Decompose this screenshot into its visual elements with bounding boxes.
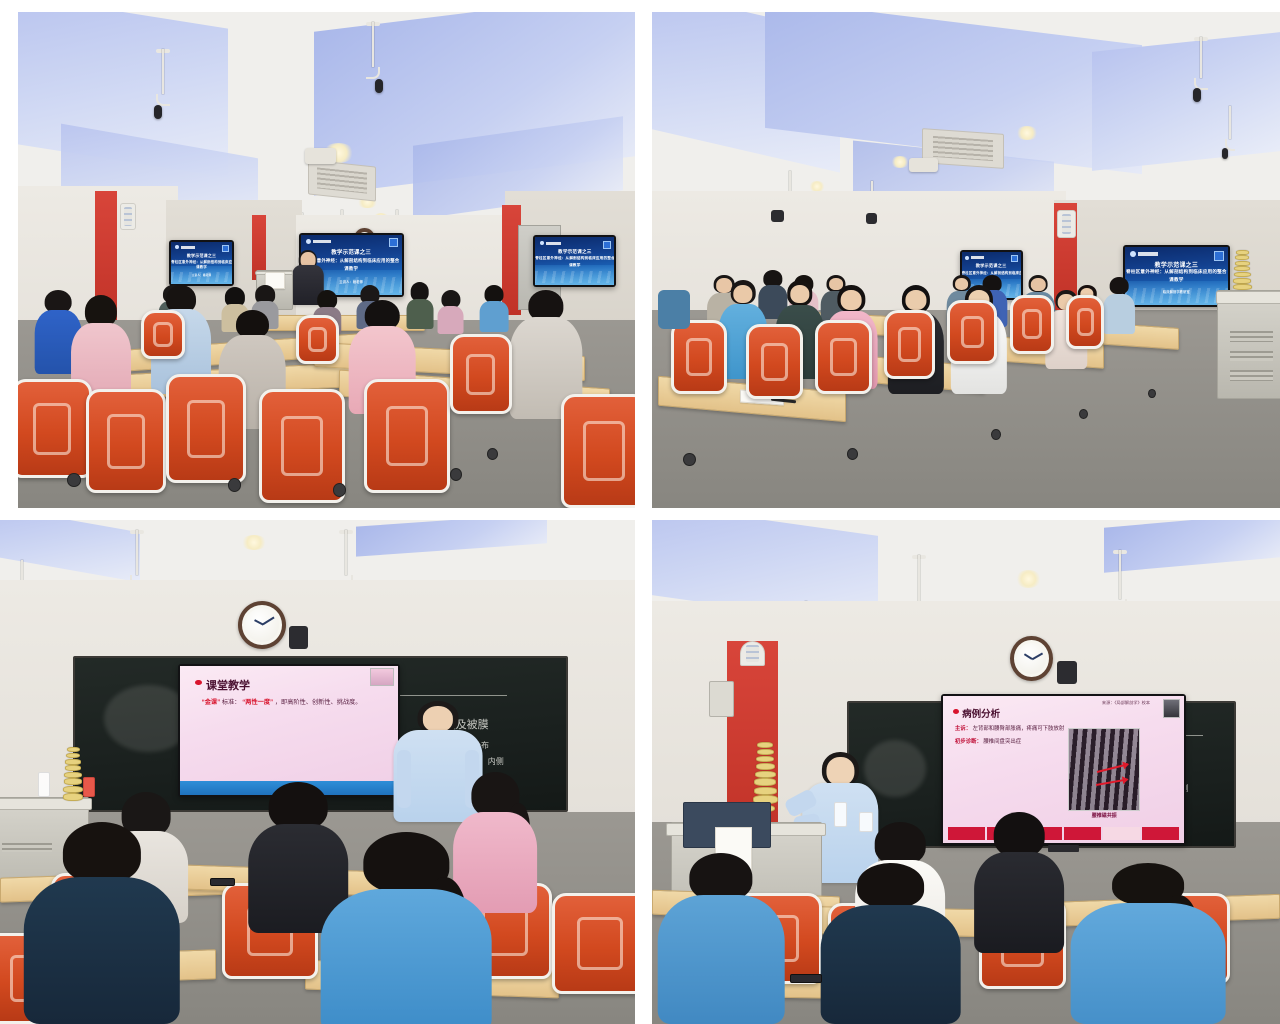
slide-bullet-dot (953, 709, 959, 714)
slide-title-line2: 脊柱区意外神经：从解剖结构到临床应用的整合 (535, 256, 614, 261)
slide-title-line3: 课教学 (535, 263, 614, 268)
slide-body-prefix: “金课” (202, 699, 221, 706)
orange-mesh-chair (815, 320, 872, 394)
ceiling-microphone (1186, 37, 1217, 111)
orange-mesh-chair (1066, 295, 1104, 350)
lumbar-spine-mri-image (1068, 728, 1140, 810)
slide-step-active (1103, 827, 1140, 840)
photo-bottom-left[interactable]: 脊柱区 椎管 脊髓及被膜 解剖 神经根 分布 内侧 课堂教学 “金课” (0, 520, 635, 1024)
presenter-video-thumbnail (370, 668, 394, 686)
university-crest (181, 246, 195, 249)
slide-title-line2: 脊柱区意外神经：从解剖结构到临床应用的整合 (171, 259, 232, 264)
wall-control-panel[interactable] (709, 681, 734, 716)
slide-case-label: 主诉： (955, 726, 971, 732)
orange-mesh-chair (561, 394, 635, 508)
surveillance-camera (289, 626, 308, 649)
slide-title-line1: 教学示范课之三 (1125, 260, 1228, 269)
slide-case-text: 腰椎间盘突出症 (983, 739, 1021, 745)
surveillance-camera (1057, 661, 1077, 684)
attendee (481, 285, 508, 332)
ceiling-downlight (241, 535, 266, 550)
slide-body-suffix: ，即高阶性、创新性、挑战度。 (275, 699, 362, 706)
orange-mesh-chair (296, 315, 339, 365)
smartphone[interactable] (210, 878, 235, 886)
orange-mesh-chair (364, 379, 450, 493)
ceiling-microphone (1217, 106, 1242, 166)
slide-department: 临床解剖学教研室 (1125, 289, 1228, 294)
surveillance-camera (771, 210, 784, 222)
attendee (828, 863, 954, 1024)
water-bottle (834, 802, 847, 827)
slide-case-row: 初步诊断： 腰椎间盘突出症 (955, 737, 1021, 745)
orange-mesh-chair (450, 334, 512, 413)
slide-case-label: 初步诊断： (955, 739, 982, 745)
slide-body-label: 标准： (222, 699, 241, 706)
slide-title-line3: 课教学 (171, 264, 232, 269)
presenter-video-thumbnail (1163, 699, 1180, 718)
lectern (1217, 290, 1280, 399)
interactive-flat-panel[interactable]: 教学示范课之三 脊柱区意外神经：从解剖结构到临床应用的整合 课教学 主讲人：杨老… (169, 240, 234, 286)
lumbar-spine-model (60, 747, 85, 802)
orange-mesh-chair (947, 300, 997, 364)
attendee (330, 832, 482, 1024)
ceiling-projector (305, 148, 336, 164)
orange-mesh-chair (1010, 295, 1054, 355)
wall-speaker (1057, 210, 1076, 237)
ceiling-projector (909, 158, 937, 172)
ceiling-downlight (891, 156, 910, 168)
water-bottle (83, 777, 96, 797)
university-crest (313, 240, 331, 243)
orange-mesh-chair (141, 310, 184, 360)
university-crest (546, 242, 561, 245)
ceiling-downlight (1016, 126, 1037, 140)
slide-body-highlight: “两性一度” (242, 699, 273, 706)
orange-mesh-chair (86, 389, 166, 493)
wall-clock (1010, 636, 1053, 681)
orange-mesh-chair (18, 379, 92, 478)
lumbar-spine-model (1230, 250, 1255, 295)
slide-title-line3: 课教学 (1125, 277, 1228, 283)
smartphone[interactable] (790, 974, 821, 983)
slide-source-note: 来源：《局部解剖学》校本 (1102, 700, 1150, 706)
slide-heading: 课堂教学 (206, 677, 250, 693)
orange-mesh-chair (259, 389, 345, 503)
university-crest (1138, 252, 1158, 256)
orange-mesh-chair (552, 893, 635, 994)
attendee (979, 812, 1061, 953)
photo-bottom-right[interactable]: 脊柱 脊神经 椎管 运动 感觉 内侧 外侧 来源：《局部解剖学》校本 病例分析 (652, 520, 1280, 1024)
university-crest (971, 256, 984, 259)
slide-case-text: 左背部和腰臀部胀痛，疼痛可下肢放射 (973, 726, 1065, 732)
slide-heading: 病例分析 (962, 706, 1000, 720)
surveillance-camera (866, 213, 877, 224)
orange-mesh-chair (671, 320, 728, 394)
interactive-flat-panel[interactable]: 教学示范课之三 脊柱区意外神经：从解剖结构到临床应用的整合 课教学 (533, 235, 616, 287)
photo-collage: 教学示范课之三 脊柱区意外神经：从解剖结构到临床应用的整合 课教学 主讲人：杨老… (0, 0, 1280, 1024)
slide-body-line: “金课” 标准： “两性一度” ，即高阶性、创新性、挑战度。 (202, 697, 362, 706)
air-conditioner-vent (308, 160, 376, 202)
photo-top-left[interactable]: 教学示范课之三 脊柱区意外神经：从解剖结构到临床应用的整合 课教学 主讲人：杨老… (18, 12, 635, 508)
wall-speaker (740, 641, 765, 666)
attendee (1104, 277, 1134, 334)
slide-step (1064, 827, 1101, 840)
slide-presenter: 主讲人：杨老师 (171, 273, 232, 277)
slide-bullet-dot (195, 680, 202, 685)
attendee (438, 290, 464, 335)
attendee (32, 822, 172, 1024)
ceiling-downlight (1016, 570, 1041, 587)
slide-title-line1: 教学示范课之三 (962, 263, 1021, 269)
chalk-note: 内侧 (488, 756, 504, 767)
wall-speaker (120, 203, 136, 230)
orange-mesh-chair (166, 374, 246, 483)
orange-mesh-chair (658, 290, 689, 330)
ceiling-microphone (148, 49, 179, 128)
attendee (1079, 863, 1217, 1024)
slide-image-caption: 腰椎磁共振 (1068, 812, 1140, 819)
photo-top-right[interactable]: 教学示范课之三 脊柱区意外神经：从解剖结构到临床应用的整合 课教学 (652, 12, 1280, 508)
slide-step (1142, 827, 1179, 840)
interactive-flat-panel[interactable]: 课堂教学 “金课” 标准： “两性一度” ，即高阶性、创新性、挑战度。 (178, 664, 400, 798)
slide-title-line1: 教学示范课之三 (171, 253, 232, 259)
wall-clock (238, 601, 286, 649)
interactive-flat-panel[interactable]: 教学示范课之三 脊柱区意外神经：从解剖结构到临床应用的整合 课教学 临床解剖学教… (1123, 245, 1230, 307)
orange-mesh-chair (746, 324, 803, 398)
slide-title-line2: 脊柱区意外神经：从解剖结构到临床应用的整合 (1125, 269, 1228, 275)
slide-title-line1: 教学示范课之三 (535, 249, 614, 255)
orange-mesh-chair (884, 310, 934, 379)
slide-case-row: 主诉： 左背部和腰臀部胀痛，疼痛可下肢放射 (955, 724, 1064, 732)
water-bottle (38, 772, 49, 797)
ceiling-microphone (357, 22, 388, 106)
attendee (665, 853, 778, 1024)
